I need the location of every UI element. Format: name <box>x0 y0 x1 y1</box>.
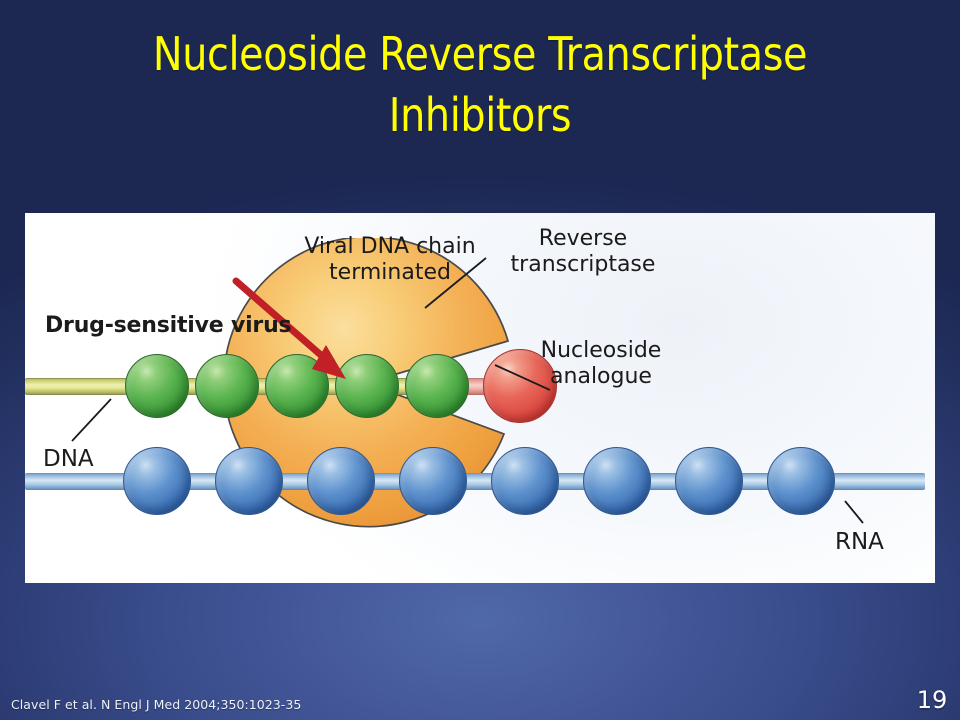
rna-nucleotide <box>215 447 283 515</box>
label-viral-dna-chain-terminated: Viral DNA chain terminated <box>280 234 500 285</box>
rna-nucleotide <box>307 447 375 515</box>
rna-nucleotide <box>583 447 651 515</box>
label-line-2: transcriptase <box>493 252 673 278</box>
label-line-1: Reverse <box>493 226 673 252</box>
dna-nucleotide <box>125 354 189 418</box>
label-line-2: analogue <box>501 364 701 390</box>
label-dna: DNA <box>43 446 94 473</box>
page-title-line-2: Inhibitors <box>19 85 941 146</box>
dna-nucleotide-terminal <box>405 354 469 418</box>
rna-nucleotide <box>675 447 743 515</box>
rna-nucleotide <box>399 447 467 515</box>
label-nucleoside-analogue: Nucleoside analogue <box>501 338 701 389</box>
label-drug-sensitive-virus: Drug-sensitive virus <box>45 313 291 339</box>
rna-nucleotide <box>123 447 191 515</box>
rna-nucleotide <box>491 447 559 515</box>
figure-panel: Viral DNA chain terminated Reverse trans… <box>25 213 935 583</box>
rna-nucleotide <box>767 447 835 515</box>
label-line-2: terminated <box>280 260 500 286</box>
label-reverse-transcriptase: Reverse transcriptase <box>493 226 673 277</box>
page-title-line-1: Nucleoside Reverse Transcriptase <box>19 24 941 85</box>
label-line-1: Viral DNA chain <box>280 234 500 260</box>
slide-canvas: Nucleoside Reverse Transcriptase Inhibit… <box>0 0 960 720</box>
label-line-1: Nucleoside <box>501 338 701 364</box>
citation-text: Clavel F et al. N Engl J Med 2004;350:10… <box>11 697 301 712</box>
label-rna: RNA <box>835 529 884 556</box>
page-title: Nucleoside Reverse Transcriptase Inhibit… <box>19 24 941 146</box>
page-number: 19 <box>915 686 949 714</box>
